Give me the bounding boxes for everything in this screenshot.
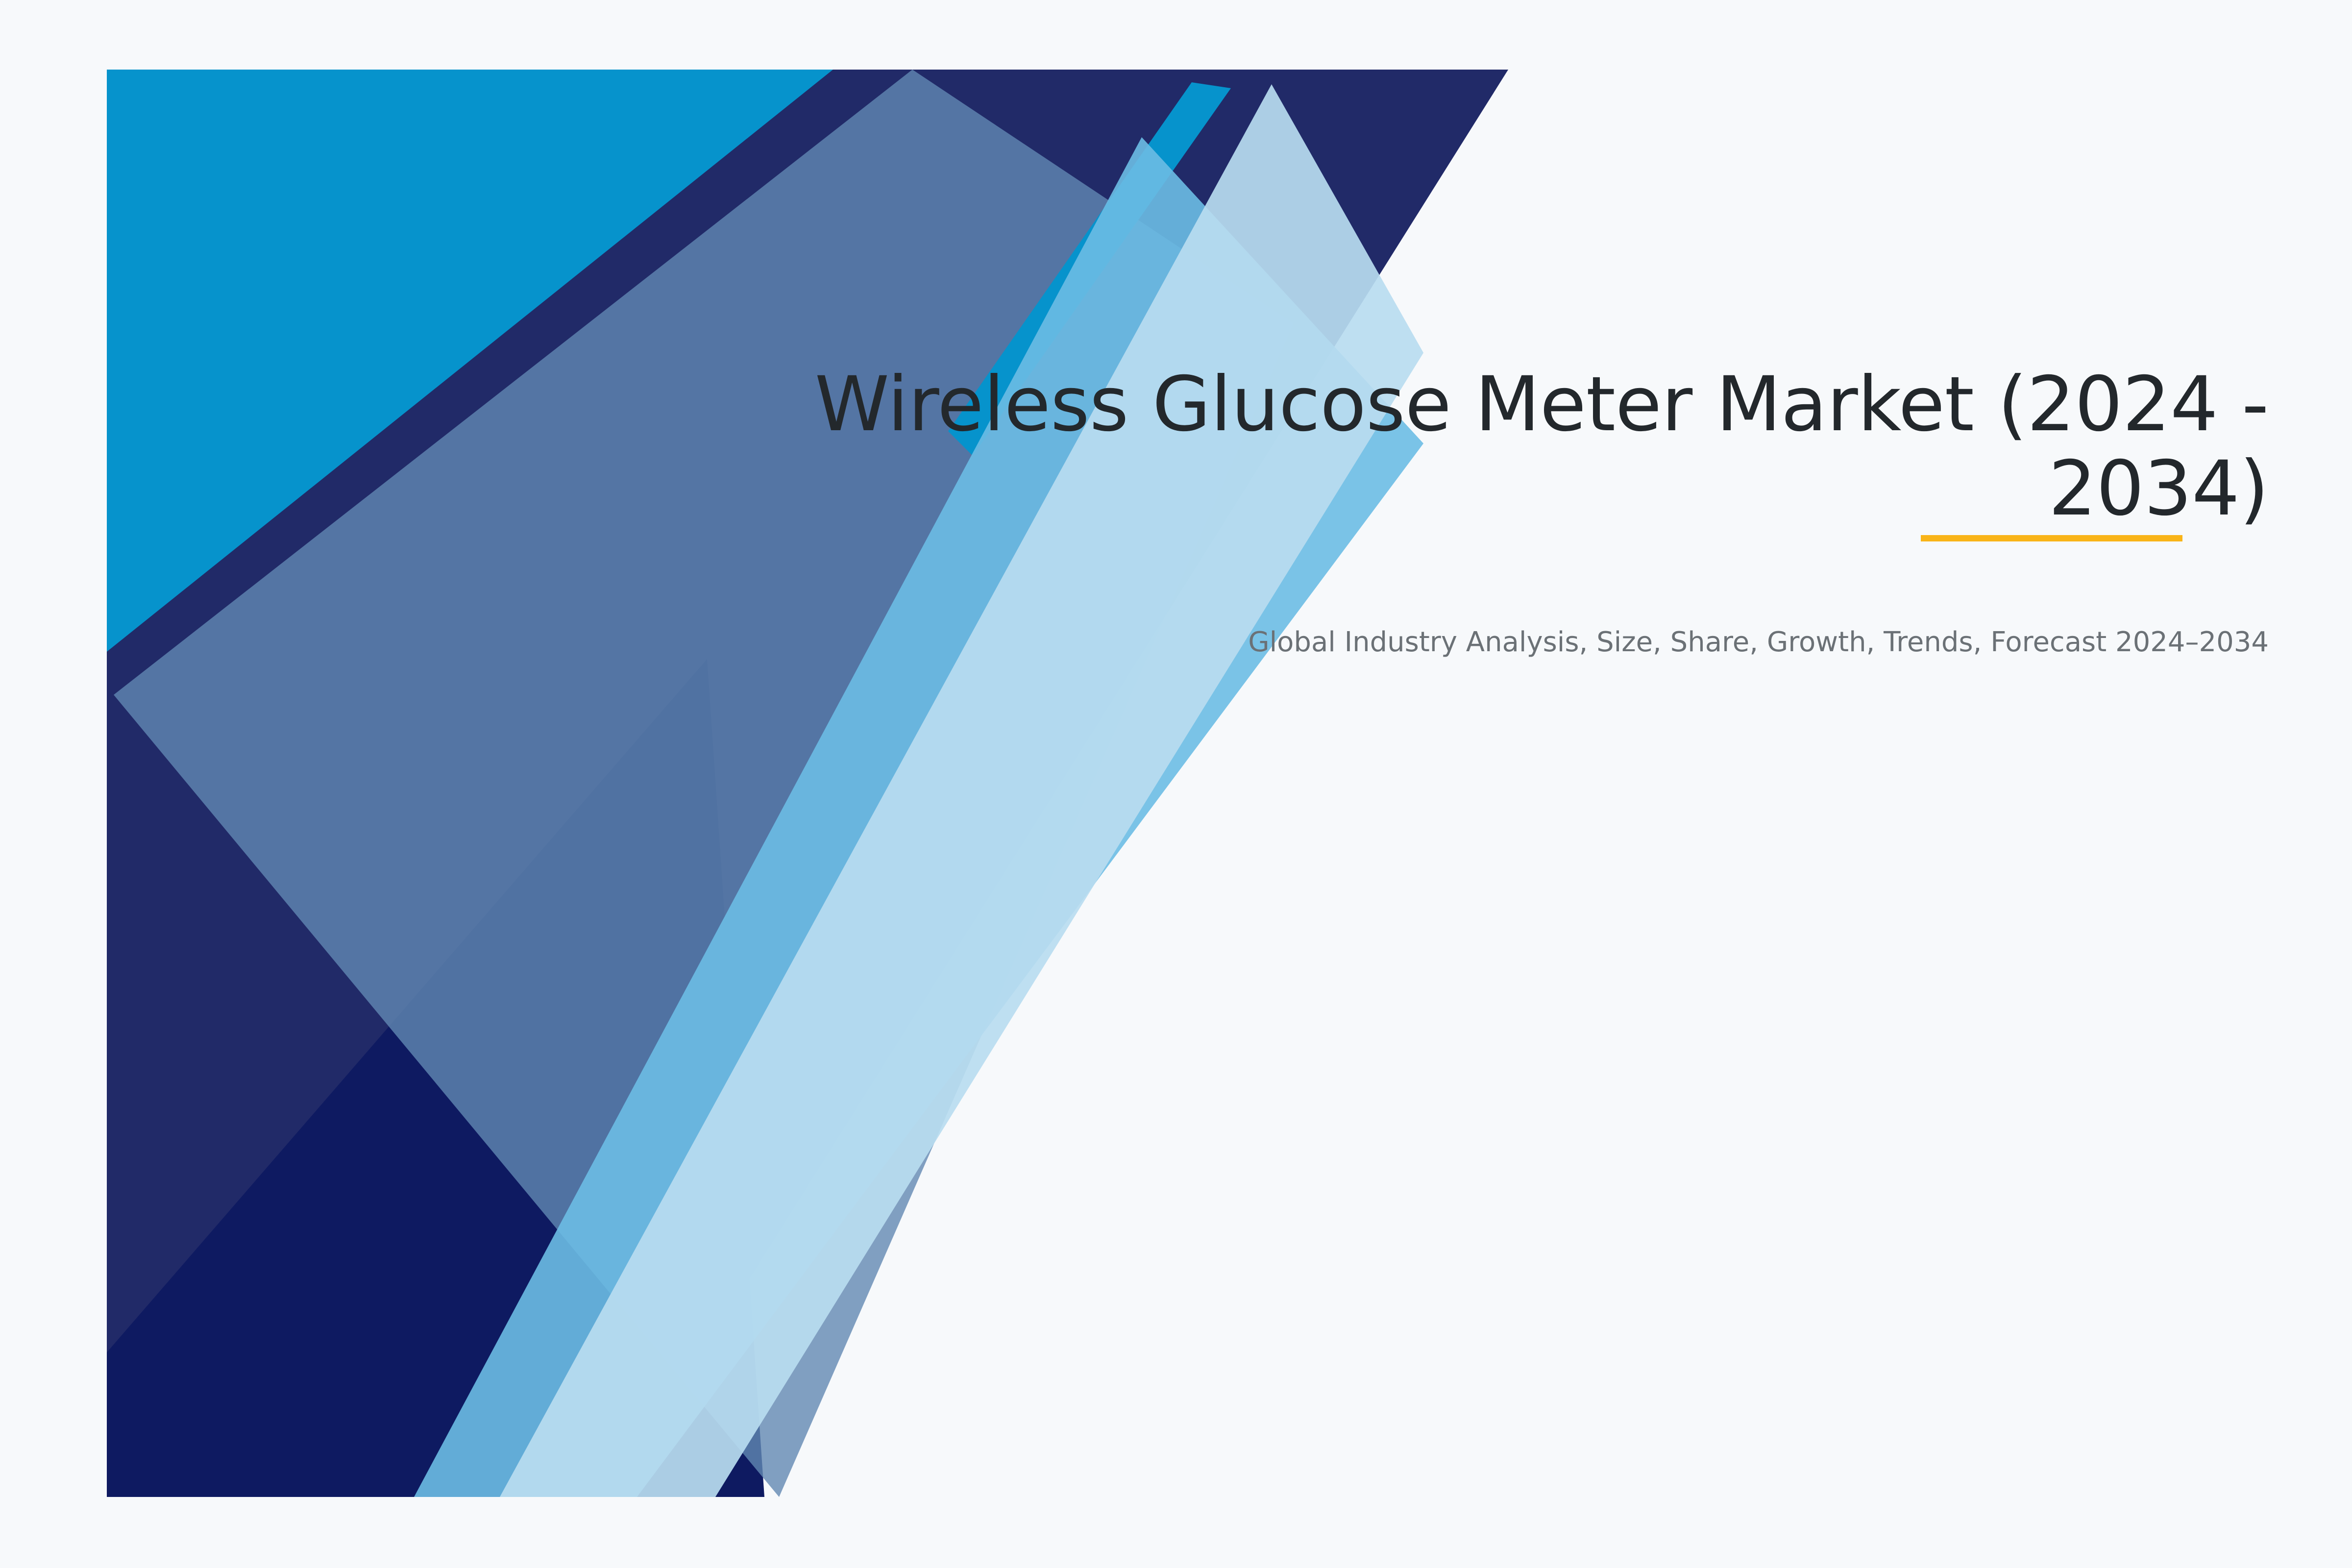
shape-deep-navy-spire bbox=[107, 659, 764, 1497]
shape-navy-top-right bbox=[107, 70, 1508, 1497]
title-wrapper: Wireless Glucose Meter Market (2024 - 20… bbox=[784, 363, 2269, 532]
page-title: Wireless Glucose Meter Market (2024 - 20… bbox=[784, 363, 2269, 532]
report-cover: Wireless Glucose Meter Market (2024 - 20… bbox=[0, 0, 2352, 1568]
abstract-geometric-artwork bbox=[0, 0, 2352, 1568]
page-subtitle: Global Industry Analysis, Size, Share, G… bbox=[784, 532, 2269, 661]
shape-sky-ray bbox=[414, 137, 1423, 1497]
shape-steel-overlay bbox=[114, 70, 1294, 1497]
shape-pale-ray bbox=[500, 84, 1423, 1497]
cover-text-block: Wireless Glucose Meter Market (2024 - 20… bbox=[784, 363, 2269, 661]
shape-cyan-field bbox=[107, 70, 1508, 1497]
